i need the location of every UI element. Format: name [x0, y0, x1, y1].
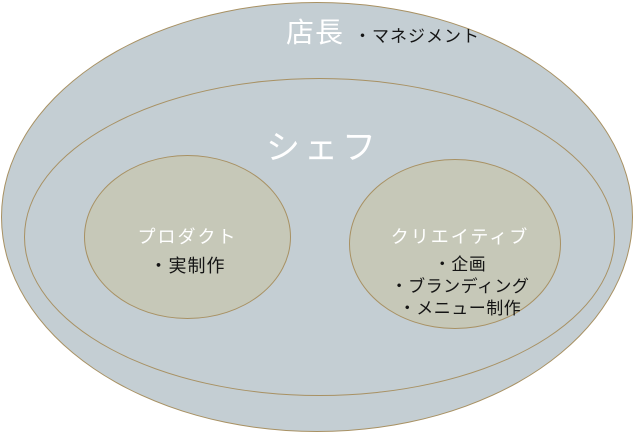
label-group-product: プロダクト ・実制作: [100, 226, 275, 278]
role-venn-diagram: 店長 ・マネジメント シェフ プロダクト ・実制作 クリエイティブ ・企画 ・ブ…: [0, 0, 641, 434]
manager-bullet-management: ・マネジメント: [354, 28, 480, 45]
label-group-manager: 店長 ・マネジメント: [286, 19, 480, 47]
creative-bullet-branding: ・ブランディング: [365, 276, 555, 298]
product-bullet-list: ・実制作: [100, 255, 275, 278]
label-group-chef: シェフ: [266, 131, 380, 165]
product-bullet-production: ・実制作: [100, 255, 275, 278]
label-group-creative: クリエイティブ ・企画 ・ブランディング ・メニュー制作: [365, 226, 555, 321]
creative-bullet-menu-creation: ・メニュー制作: [365, 298, 555, 320]
creative-title: クリエイティブ: [365, 226, 555, 249]
creative-bullet-list: ・企画 ・ブランディング ・メニュー制作: [365, 254, 555, 321]
creative-bullet-planning: ・企画: [365, 254, 555, 276]
chef-title: シェフ: [266, 129, 380, 167]
manager-title: 店長: [286, 19, 344, 47]
product-title: プロダクト: [100, 226, 275, 249]
